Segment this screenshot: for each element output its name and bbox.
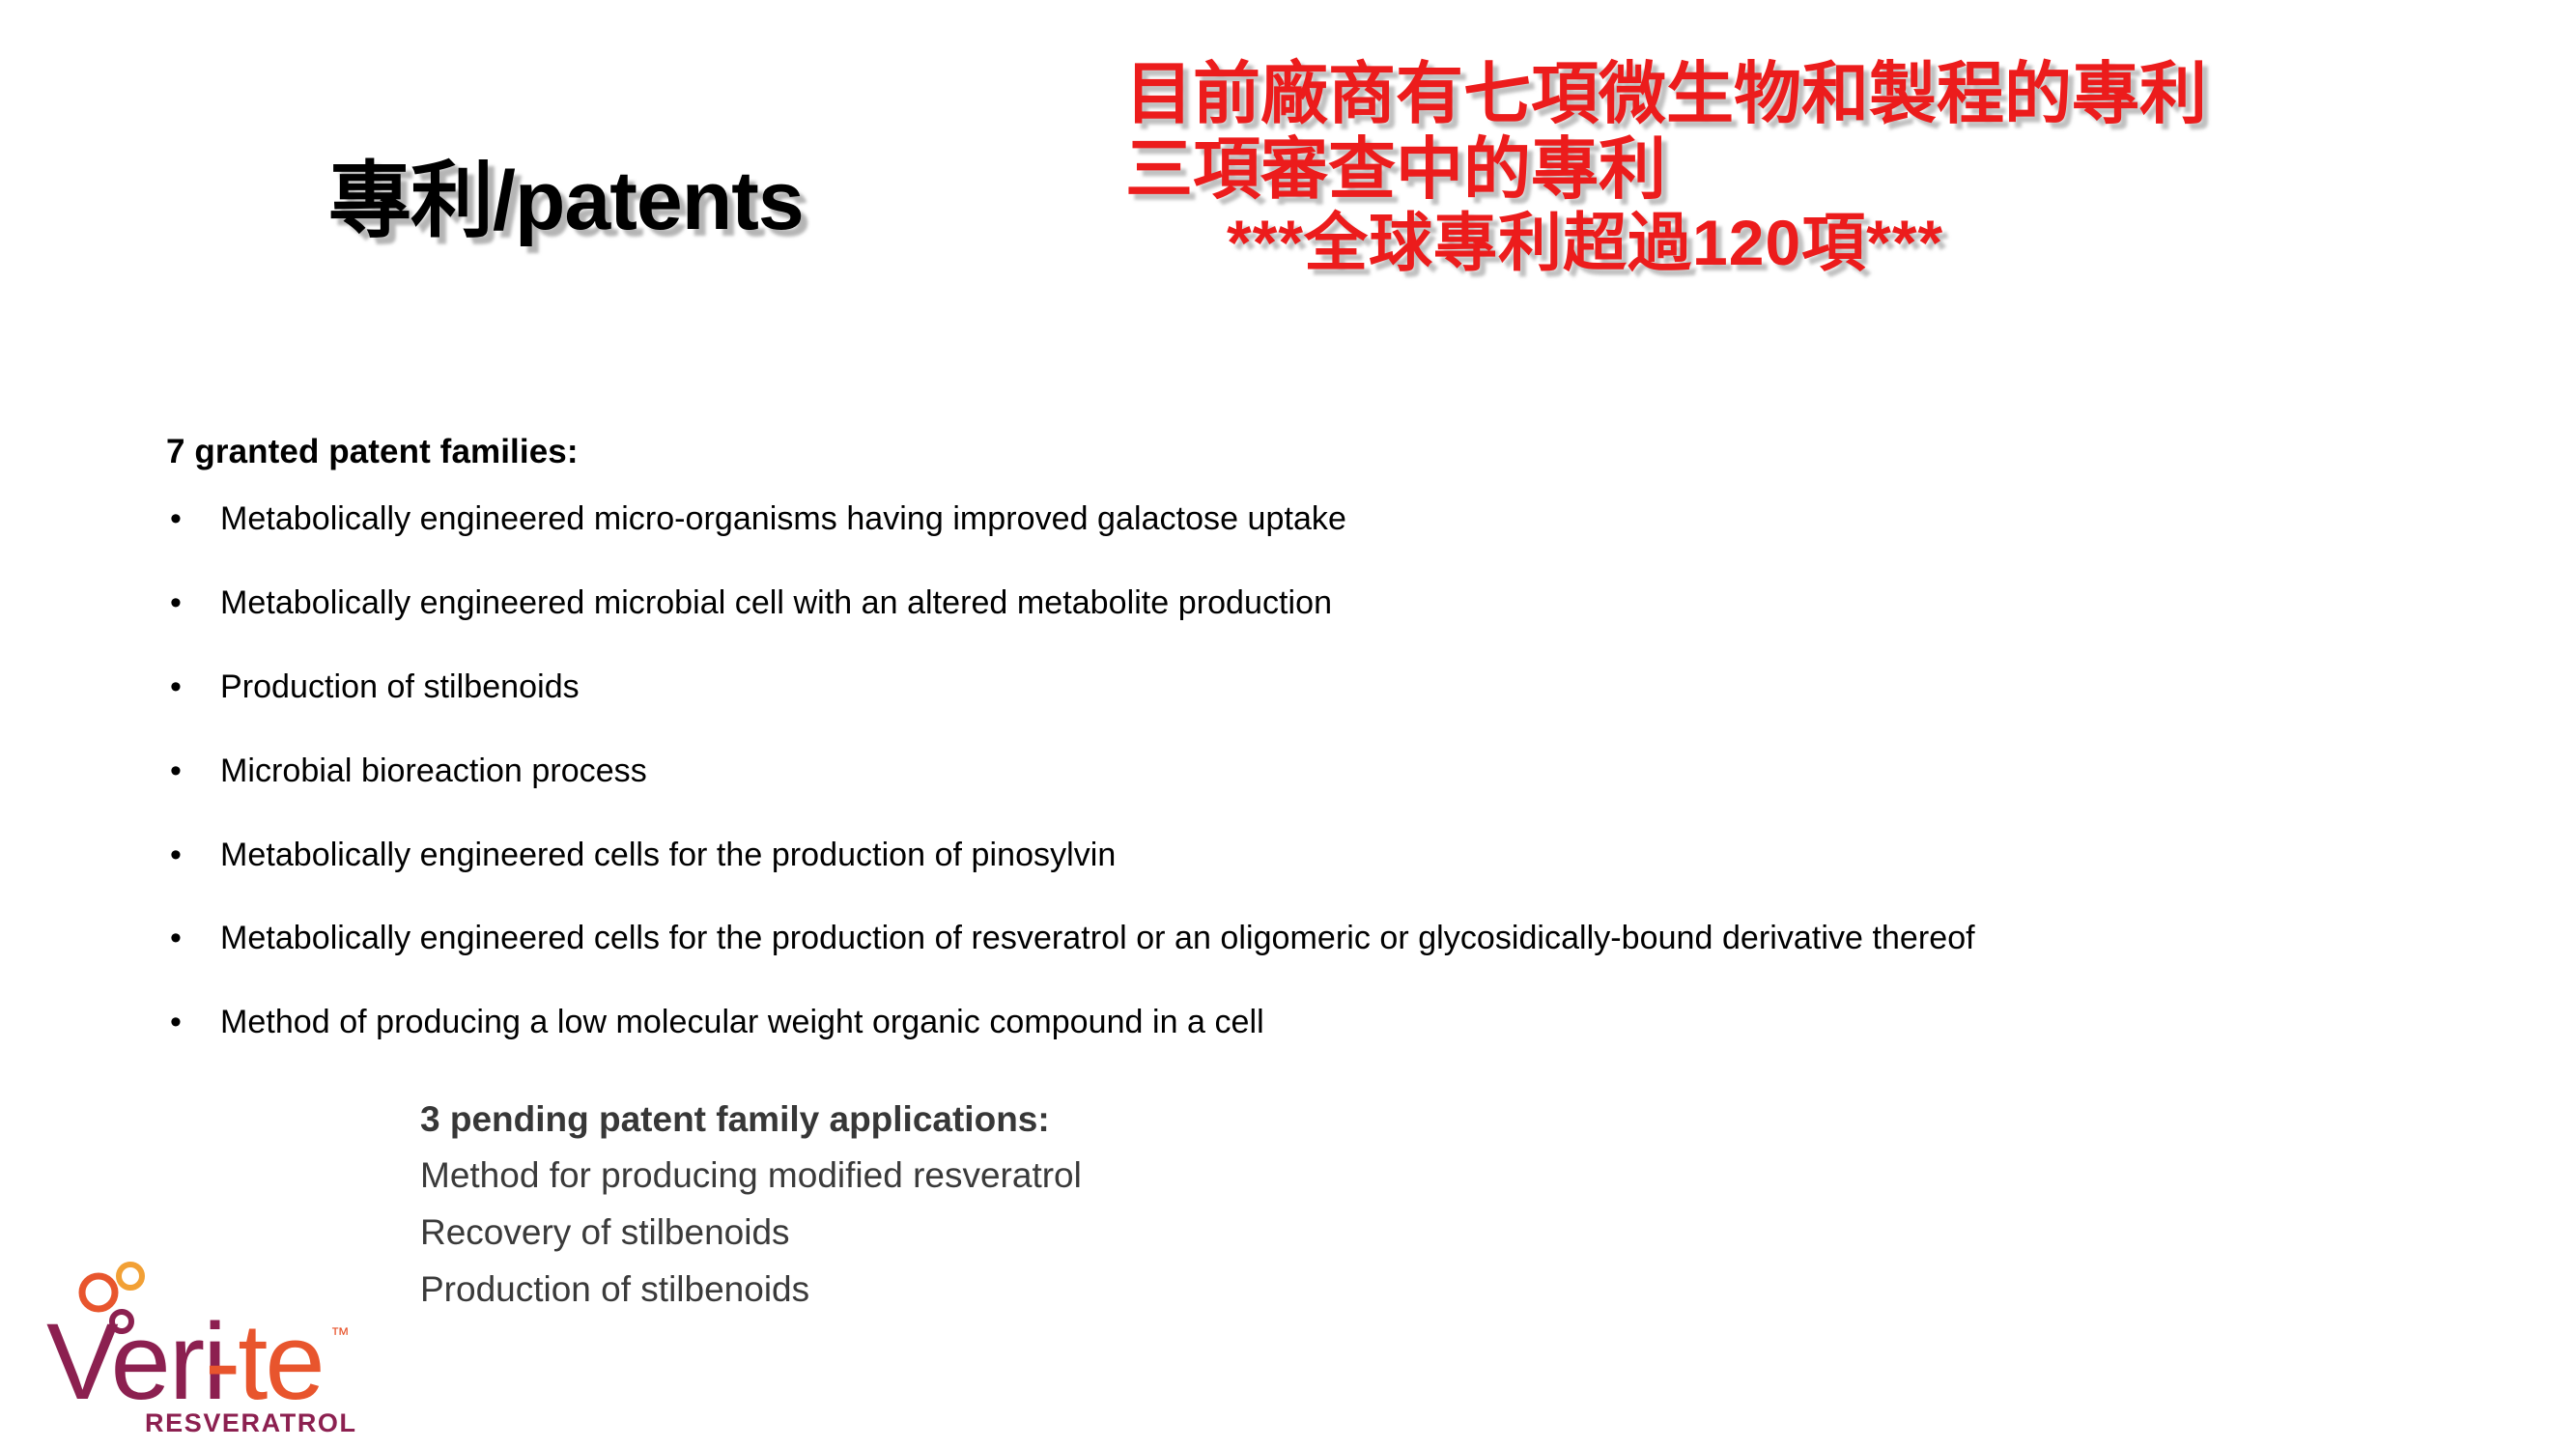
bullet-icon: •: [166, 917, 220, 960]
logo-wordmark-primary: Veri: [46, 1301, 225, 1422]
list-item-label: Method of producing a low molecular weig…: [220, 1001, 1264, 1044]
red-note-block: 目前廠商有七項微生物和製程的專利 三項審查中的專利 ***全球專利超過120項*…: [1125, 56, 2516, 279]
red-note-line-1: 目前廠商有七項微生物和製程的專利: [1125, 56, 2516, 131]
list-item-label: Metabolically engineered micro-organisms…: [220, 497, 1346, 541]
list-item-label: Metabolically engineered cells for the p…: [220, 917, 1975, 960]
list-item: • Microbial bioreaction process: [166, 750, 2504, 793]
list-item: • Metabolically engineered cells for the…: [166, 917, 2504, 960]
pending-applications-block: 3 pending patent family applications: Me…: [420, 1101, 1082, 1307]
slide-canvas: 專利/patents 目前廠商有七項微生物和製程的專利 三項審查中的專利 ***…: [0, 0, 2576, 1449]
granted-patents-heading: 7 granted patent families:: [166, 433, 579, 471]
list-item-label: Metabolically engineered microbial cell …: [220, 582, 1332, 625]
verite-resveratrol-logo: Veri -te ™ RESVERATROL: [29, 1256, 377, 1439]
bullet-icon: •: [166, 582, 220, 625]
logo-wordmark-secondary: -te: [205, 1301, 323, 1422]
red-note-line-2: 三項審查中的專利: [1125, 131, 2516, 207]
pending-application-item: Production of stilbenoids: [420, 1271, 1082, 1307]
red-note-line-3: ***全球專利超過120項***: [1125, 208, 2516, 279]
pending-application-item: Recovery of stilbenoids: [420, 1214, 1082, 1250]
page-title: 專利/patents: [328, 132, 804, 253]
list-item-label: Microbial bioreaction process: [220, 750, 647, 793]
list-item: • Production of stilbenoids: [166, 666, 2504, 709]
bullet-icon: •: [166, 1001, 220, 1044]
bullet-icon: •: [166, 834, 220, 877]
logo-tagline: RESVERATROL: [145, 1408, 357, 1437]
bullet-icon: •: [166, 750, 220, 793]
bubble-yellow-icon: [119, 1264, 142, 1288]
bullet-icon: •: [166, 666, 220, 709]
list-item: • Metabolically engineered microbial cel…: [166, 582, 2504, 625]
logo-artwork: Veri -te ™ RESVERATROL: [29, 1256, 377, 1439]
list-item: • Method of producing a low molecular we…: [166, 1001, 2504, 1044]
granted-patents-list: • Metabolically engineered micro-organis…: [166, 497, 2504, 1044]
list-item-label: Production of stilbenoids: [220, 666, 580, 709]
pending-application-item: Method for producing modified resveratro…: [420, 1157, 1082, 1193]
list-item: • Metabolically engineered micro-organis…: [166, 497, 2504, 541]
pending-applications-heading: 3 pending patent family applications:: [420, 1101, 1082, 1137]
list-item-label: Metabolically engineered cells for the p…: [220, 834, 1116, 877]
bullet-icon: •: [166, 497, 220, 541]
list-item: • Metabolically engineered cells for the…: [166, 834, 2504, 877]
logo-trademark-icon: ™: [330, 1324, 350, 1346]
